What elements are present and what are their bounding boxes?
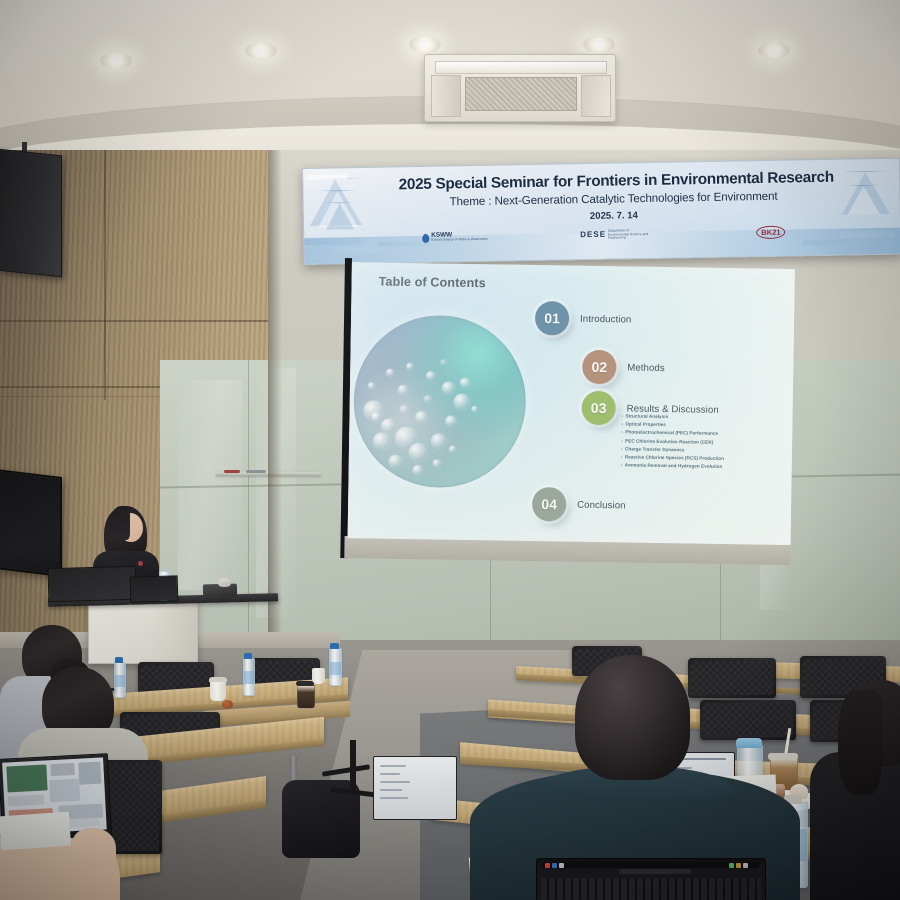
water-drop-icon [422,233,429,242]
whiteboard-marker[interactable] [246,470,266,473]
cup-lid [768,753,798,760]
audience-person-hair [838,690,882,795]
toc-subitem: ›Ammonia Removal and Hydrogen Evolution [621,461,724,471]
laptop-taskbar[interactable] [543,862,759,868]
toc-number-badge: 03 [581,391,616,426]
toc-subitem-list: ›Structural Analysis ›Optical Properties… [621,412,725,471]
toc-item-02: 02 Methods [582,350,665,385]
foreground-laptop[interactable] [536,858,766,900]
bubbles-in-water-graphic [352,314,527,489]
logo-bk21-text: BK21 [756,226,786,240]
foreground-person-head [575,655,690,780]
panel-seam [248,360,249,650]
podium-control-panel[interactable] [130,575,179,602]
laptop[interactable] [373,756,457,820]
paper-coffee-cup[interactable] [312,668,325,684]
downlight-2 [245,42,277,59]
water-bottle[interactable] [329,648,342,686]
toc-label: Introduction [580,313,632,325]
presenter-name-badge [138,561,143,566]
presenter-hair-front [110,506,130,540]
tumbler-lid [736,738,762,748]
ac-vent-top [435,61,607,74]
seminar-banner: 2025 Special Seminar for Frontiers in En… [302,158,900,265]
ac-grille [465,77,577,111]
laptop-keyboard[interactable] [541,878,761,900]
ceiling-speaker [0,149,62,278]
projection-screen: Table of Contents [340,258,795,565]
chair-post [350,740,356,792]
chair[interactable] [700,700,796,740]
slide-title: Table of Contents [379,275,486,291]
laptop-search-bar[interactable] [619,869,691,874]
snack[interactable] [222,700,233,709]
toc-number-badge: 04 [532,487,567,522]
water-bottle[interactable] [243,658,255,696]
ac-side-vent-left [431,75,461,117]
bottle-cap [244,653,252,659]
downlight-1 [100,52,132,69]
downlight-5 [758,42,790,59]
toc-label: Conclusion [577,499,626,511]
ac-side-vent-right [581,75,611,117]
wall-corner-shadow [268,150,282,650]
toc-number: 04 [541,496,557,512]
toc-label: Methods [627,362,665,374]
paper-coffee-cup[interactable] [210,680,226,701]
audience-person-hand [72,828,116,868]
toc-item-04: 04 Conclusion [532,487,626,522]
banner-date: 2025. 7. 14 [344,206,884,226]
toc-subitem-label: Ammonia Removal and Hydrogen Evolution [625,461,723,471]
wood-seam [104,150,106,400]
podium-mouse[interactable] [218,578,231,587]
banner-logo-dese: DESE Department of Environmental Science… [580,229,650,241]
toc-number: 01 [544,310,560,326]
logo-dese-sub: Department of Environmental Science and … [608,229,650,241]
wall-monitor[interactable] [0,469,62,577]
banner-bar-decor [307,174,347,180]
toc-number-badge: 01 [535,301,570,336]
iced-coffee-cup[interactable] [297,685,315,709]
banner-logo-ksww: KSWW Korean Society of Water & Wastewate… [422,232,488,243]
chair[interactable] [688,658,776,698]
downlight-3 [409,36,441,53]
downlight-4 [583,36,615,53]
cup-lid [296,681,314,686]
lecture-hall-photo: 2025 Special Seminar for Frontiers in En… [0,0,900,900]
toc-number: 02 [591,359,607,375]
bottle-cap [330,643,339,649]
podium [88,600,198,664]
podium-monitor[interactable] [48,566,137,602]
ceiling-ac-unit [424,54,616,122]
whiteboard-marker[interactable] [224,470,240,473]
documents [0,812,71,851]
banner-logo-bk21: BK21 [756,226,786,240]
toc-number-badge: 02 [582,350,617,385]
toc-item-01: 01 Introduction [535,301,632,337]
wood-seam [0,320,268,322]
cup-lid [209,677,227,682]
water-bottle[interactable] [114,662,126,698]
toc-number: 03 [591,400,607,416]
logo-dese-text: DESE [580,231,606,239]
bottle-cap [115,657,123,663]
presentation-slide: Table of Contents [348,262,795,545]
